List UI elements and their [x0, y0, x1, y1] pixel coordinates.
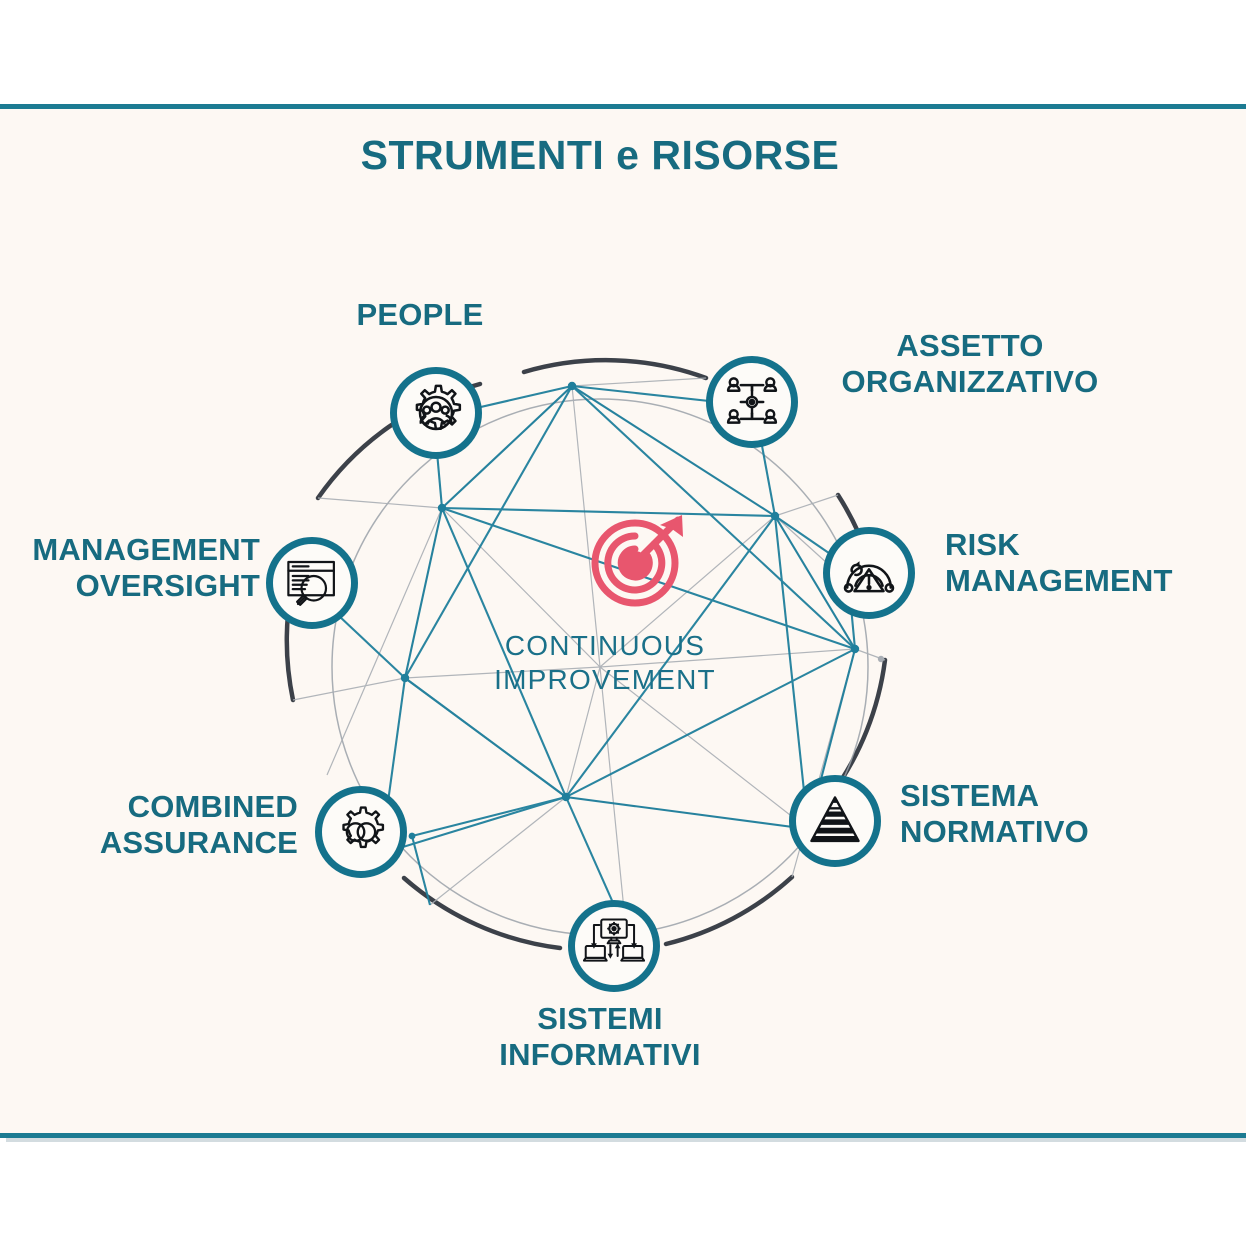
org-chart-icon: [722, 372, 782, 432]
label-risk-management-line1: RISK: [945, 527, 1173, 563]
label-risk-management: RISK MANAGEMENT: [945, 527, 1173, 599]
label-sistemi-informativi-line2: INFORMATIVI: [420, 1037, 780, 1073]
risk-gauge-warning-icon: [840, 544, 898, 602]
network-node-dots-gray: [878, 656, 884, 662]
node-combined-assurance[interactable]: [315, 786, 407, 878]
node-assetto-organizzativo[interactable]: [706, 356, 798, 448]
center-label-line2: IMPROVEMENT: [423, 663, 787, 697]
label-assetto-organizzativo-line1: ASSETTO: [810, 328, 1130, 364]
gear-people-icon: [405, 382, 467, 444]
label-sistema-normativo: SISTEMA NORMATIVO: [900, 778, 1089, 850]
node-sistemi-informativi[interactable]: [568, 900, 660, 992]
label-assetto-organizzativo: ASSETTO ORGANIZZATIVO: [810, 328, 1130, 400]
gear-venn-icon: [332, 803, 390, 861]
target-arrow-icon: [586, 503, 694, 616]
center-label: CONTINUOUS IMPROVEMENT: [423, 629, 787, 696]
node-sistema-normativo[interactable]: [789, 775, 881, 867]
label-people-line1: PEOPLE: [240, 297, 600, 333]
node-risk-management[interactable]: [823, 527, 915, 619]
label-risk-management-line2: MANAGEMENT: [945, 563, 1173, 599]
document-magnifier-icon: [284, 555, 340, 611]
label-sistema-normativo-line2: NORMATIVO: [900, 814, 1089, 850]
label-assetto-organizzativo-line2: ORGANIZZATIVO: [810, 364, 1130, 400]
label-management-oversight: MANAGEMENT OVERSIGHT: [0, 532, 260, 604]
label-management-oversight-line1: MANAGEMENT: [0, 532, 260, 568]
label-management-oversight-line2: OVERSIGHT: [0, 568, 260, 604]
label-combined-assurance-line1: COMBINED: [18, 789, 298, 825]
label-combined-assurance-line2: ASSURANCE: [18, 825, 298, 861]
networked-computers-gear-icon: [583, 917, 645, 975]
label-sistemi-informativi: SISTEMI INFORMATIVI: [420, 1001, 780, 1073]
node-management-oversight[interactable]: [266, 537, 358, 629]
pyramid-layers-icon: [806, 792, 864, 850]
node-people[interactable]: [390, 367, 482, 459]
label-people: PEOPLE: [240, 297, 600, 333]
label-combined-assurance: COMBINED ASSURANCE: [18, 789, 298, 861]
center-label-line1: CONTINUOUS: [423, 629, 787, 663]
label-sistemi-informativi-line1: SISTEMI: [420, 1001, 780, 1037]
label-sistema-normativo-line1: SISTEMA: [900, 778, 1089, 814]
slide: STRUMENTI e RISORSE: [0, 0, 1246, 1260]
diagram-stage: CONTINUOUS IMPROVEMENT PEOPLE: [0, 0, 1246, 1260]
